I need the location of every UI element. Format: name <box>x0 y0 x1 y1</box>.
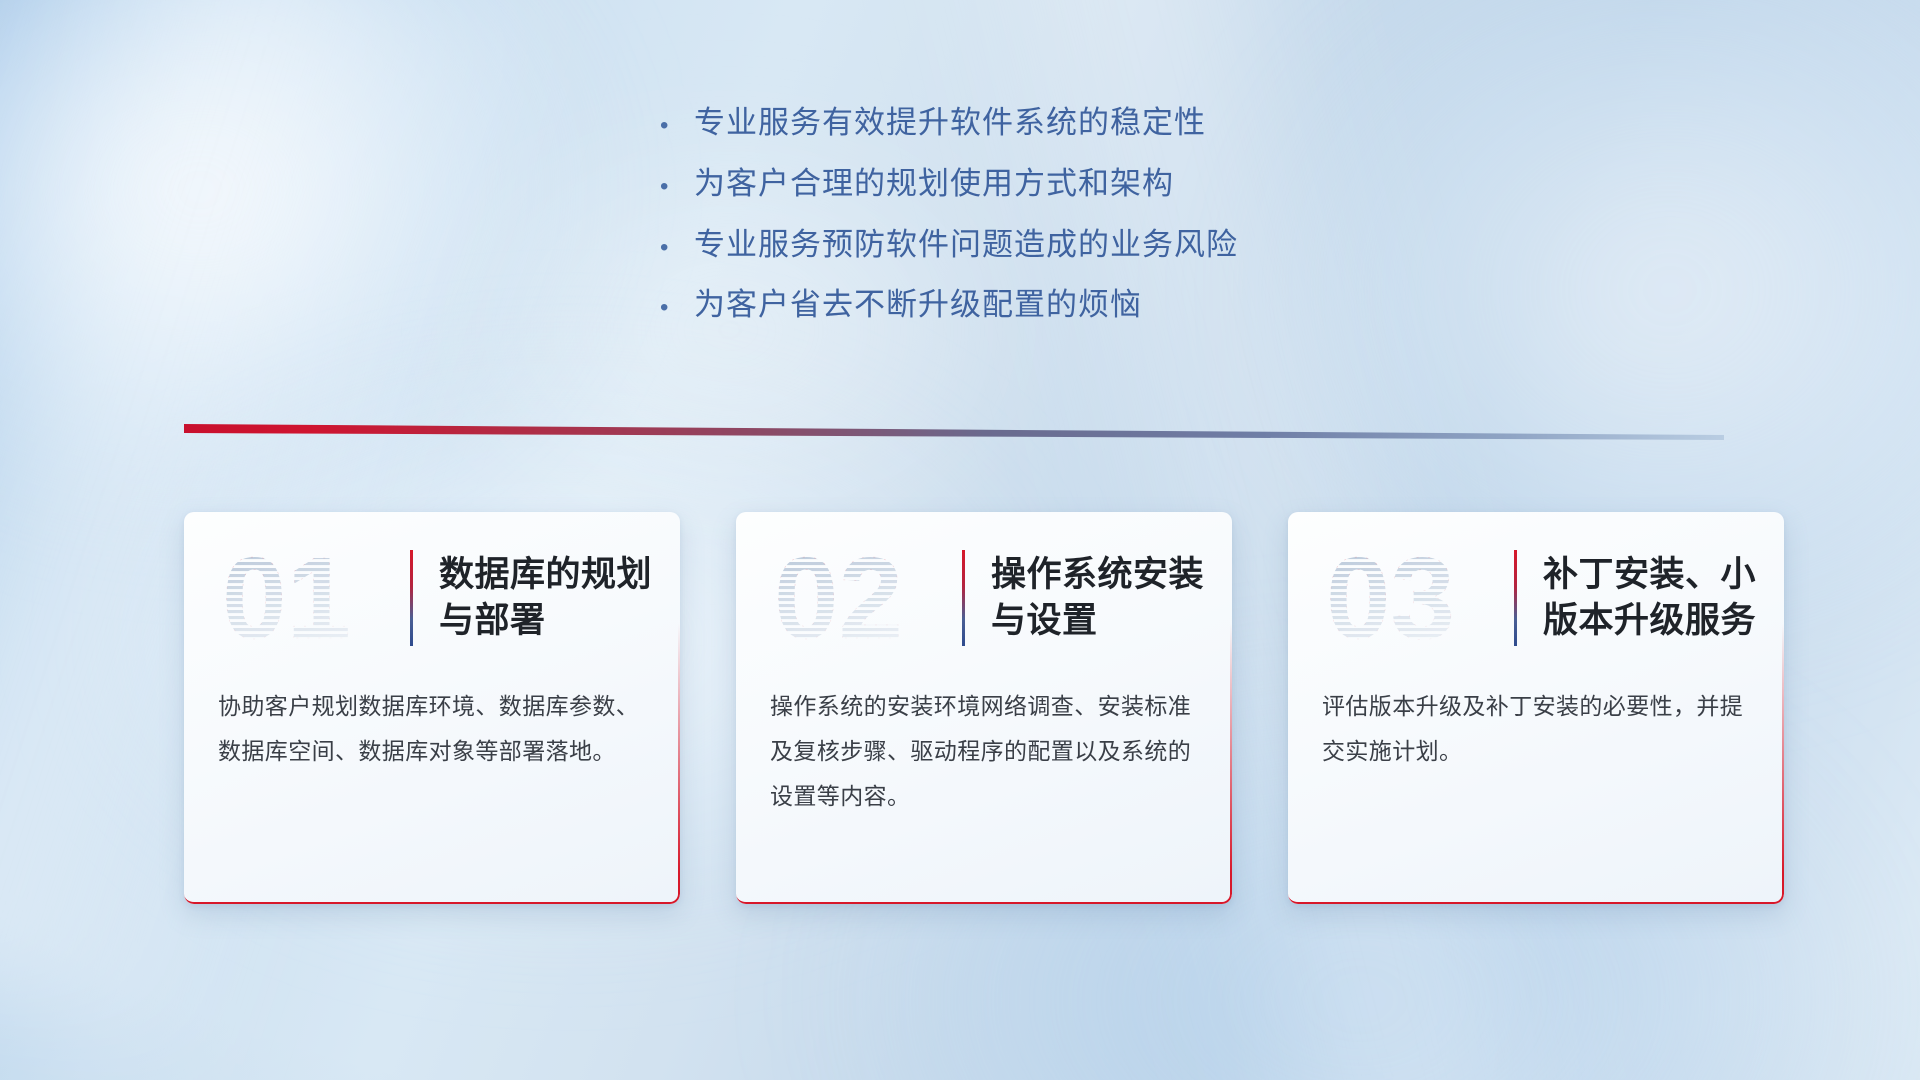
card-header: 03 03 补丁安装、小版本升级服务 <box>1288 512 1784 684</box>
svg-text:01: 01 <box>222 538 351 658</box>
bullet-text: 专业服务有效提升软件系统的稳定性 <box>694 104 1206 143</box>
bullet-dot-icon: • <box>660 175 694 199</box>
ghost-number-01-icon: 01 01 <box>218 538 406 658</box>
striped-number-graphic: 03 03 <box>1322 538 1510 658</box>
card-header: 02 02 操作系统安装与设置 <box>736 512 1232 684</box>
card-header: 01 01 数据库的规划与部署 <box>184 512 680 684</box>
bullet-text: 为客户合理的规划使用方式和架构 <box>694 165 1174 204</box>
service-card-03[interactable]: 03 03 补丁安装、小版本升级服务 评估版本升级及补丁安装的必要性，并提交实施… <box>1288 512 1784 904</box>
svg-text:02: 02 <box>774 538 903 658</box>
gradient-divider <box>184 422 1724 444</box>
card-title: 数据库的规划与部署 <box>439 552 680 644</box>
card-accent-bar <box>962 550 965 646</box>
svg-text:03: 03 <box>1326 538 1455 658</box>
bullet-dot-icon: • <box>660 114 694 138</box>
card-title: 补丁安装、小版本升级服务 <box>1543 552 1784 644</box>
benefits-bullet-list: • 专业服务有效提升软件系统的稳定性 • 为客户合理的规划使用方式和架构 • 专… <box>660 104 1238 347</box>
card-body-text: 评估版本升级及补丁安装的必要性，并提交实施计划。 <box>1288 684 1784 774</box>
card-accent-bar <box>410 550 413 646</box>
striped-number-graphic: 02 02 <box>770 538 958 658</box>
service-card-01[interactable]: 01 01 数据库的规划与部署 协助客户规划数据库环境、数据库参数、数据库空间、… <box>184 512 680 904</box>
card-accent-bar <box>1514 550 1517 646</box>
service-card-02[interactable]: 02 02 操作系统安装与设置 操作系统的安装环境网络调查、安装标准及复核步骤、… <box>736 512 1232 904</box>
ghost-number-02-icon: 02 02 <box>770 538 958 658</box>
card-title: 操作系统安装与设置 <box>991 552 1232 644</box>
service-card-list: 01 01 数据库的规划与部署 协助客户规划数据库环境、数据库参数、数据库空间、… <box>184 512 1784 904</box>
list-item: • 专业服务预防软件问题造成的业务风险 <box>660 226 1238 265</box>
bullet-dot-icon: • <box>660 296 694 320</box>
bullet-text: 专业服务预防软件问题造成的业务风险 <box>694 226 1238 265</box>
divider-shape-icon <box>184 422 1724 444</box>
list-item: • 专业服务有效提升软件系统的稳定性 <box>660 104 1238 143</box>
bullet-text: 为客户省去不断升级配置的烦恼 <box>694 286 1142 325</box>
card-body-text: 协助客户规划数据库环境、数据库参数、数据库空间、数据库对象等部署落地。 <box>184 684 680 774</box>
list-item: • 为客户省去不断升级配置的烦恼 <box>660 286 1238 325</box>
ghost-number-03-icon: 03 03 <box>1322 538 1510 658</box>
list-item: • 为客户合理的规划使用方式和架构 <box>660 165 1238 204</box>
card-body-text: 操作系统的安装环境网络调查、安装标准及复核步骤、驱动程序的配置以及系统的设置等内… <box>736 684 1232 819</box>
slide-content: • 专业服务有效提升软件系统的稳定性 • 为客户合理的规划使用方式和架构 • 专… <box>0 0 1920 1080</box>
striped-number-graphic: 01 01 <box>218 538 406 658</box>
bullet-dot-icon: • <box>660 236 694 260</box>
